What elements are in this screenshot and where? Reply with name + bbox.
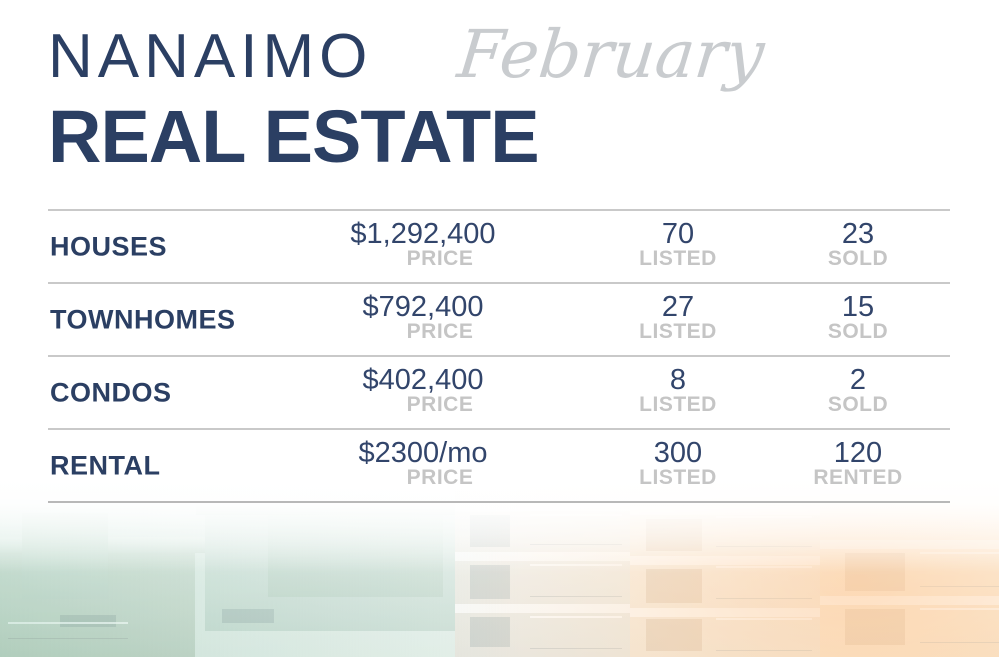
sold-label: SOLD <box>748 321 968 343</box>
sold-value: 15 <box>748 292 968 322</box>
cell-price: $792,400 PRICE <box>298 292 548 343</box>
price-value: $792,400 <box>298 292 548 322</box>
sold-value: 2 <box>748 365 968 395</box>
listed-value: 27 <box>588 292 768 322</box>
table-row: CONDOS $402,400 PRICE 8 LISTED 2 SOLD <box>48 357 950 428</box>
rented-value: 120 <box>748 438 968 468</box>
stats-table: HOUSES $1,292,400 PRICE 70 LISTED 23 SOL… <box>48 209 950 503</box>
cell-listed: 8 LISTED <box>588 365 768 416</box>
price-label: PRICE <box>298 467 548 489</box>
sold-label: SOLD <box>748 248 968 270</box>
table-row: TOWNHOMES $792,400 PRICE 27 LISTED 15 SO… <box>48 284 950 355</box>
listed-value: 70 <box>588 219 768 249</box>
cell-sold: 120 RENTED <box>748 438 968 489</box>
cell-listed: 27 LISTED <box>588 292 768 343</box>
cell-sold: 2 SOLD <box>748 365 968 416</box>
cell-listed: 300 LISTED <box>588 438 768 489</box>
row-category-label: RENTAL <box>50 450 161 481</box>
sold-label: SOLD <box>748 394 968 416</box>
cell-price: $402,400 PRICE <box>298 365 548 416</box>
price-value: $1,292,400 <box>298 219 548 249</box>
listed-label: LISTED <box>588 467 768 489</box>
header-line-1: NANAIMO February <box>48 26 948 104</box>
rented-label: RENTED <box>748 467 968 489</box>
listed-label: LISTED <box>588 394 768 416</box>
table-row: RENTAL $2300/mo PRICE 300 LISTED 120 REN… <box>48 430 950 501</box>
cell-listed: 70 LISTED <box>588 219 768 270</box>
building-photo <box>0 477 999 657</box>
row-category-label: TOWNHOMES <box>50 304 236 335</box>
listed-value: 300 <box>588 438 768 468</box>
price-value: $402,400 <box>298 365 548 395</box>
row-category-label: CONDOS <box>50 377 172 408</box>
listed-label: LISTED <box>588 321 768 343</box>
page-title-headline: REAL ESTATE <box>48 100 539 174</box>
price-value: $2300/mo <box>298 438 548 468</box>
table-divider <box>48 501 950 503</box>
price-label: PRICE <box>298 394 548 416</box>
cell-sold: 23 SOLD <box>748 219 968 270</box>
listed-label: LISTED <box>588 248 768 270</box>
listed-value: 8 <box>588 365 768 395</box>
price-label: PRICE <box>298 321 548 343</box>
table-row: HOUSES $1,292,400 PRICE 70 LISTED 23 SOL… <box>48 211 950 282</box>
cell-sold: 15 SOLD <box>748 292 968 343</box>
cell-price: $1,292,400 PRICE <box>298 219 548 270</box>
page-title-city: NANAIMO <box>48 26 372 88</box>
price-label: PRICE <box>298 248 548 270</box>
sold-value: 23 <box>748 219 968 249</box>
page-header: NANAIMO February REAL ESTATE <box>48 26 948 191</box>
page-title-month: February <box>455 22 768 88</box>
cell-price: $2300/mo PRICE <box>298 438 548 489</box>
row-category-label: HOUSES <box>50 231 167 262</box>
